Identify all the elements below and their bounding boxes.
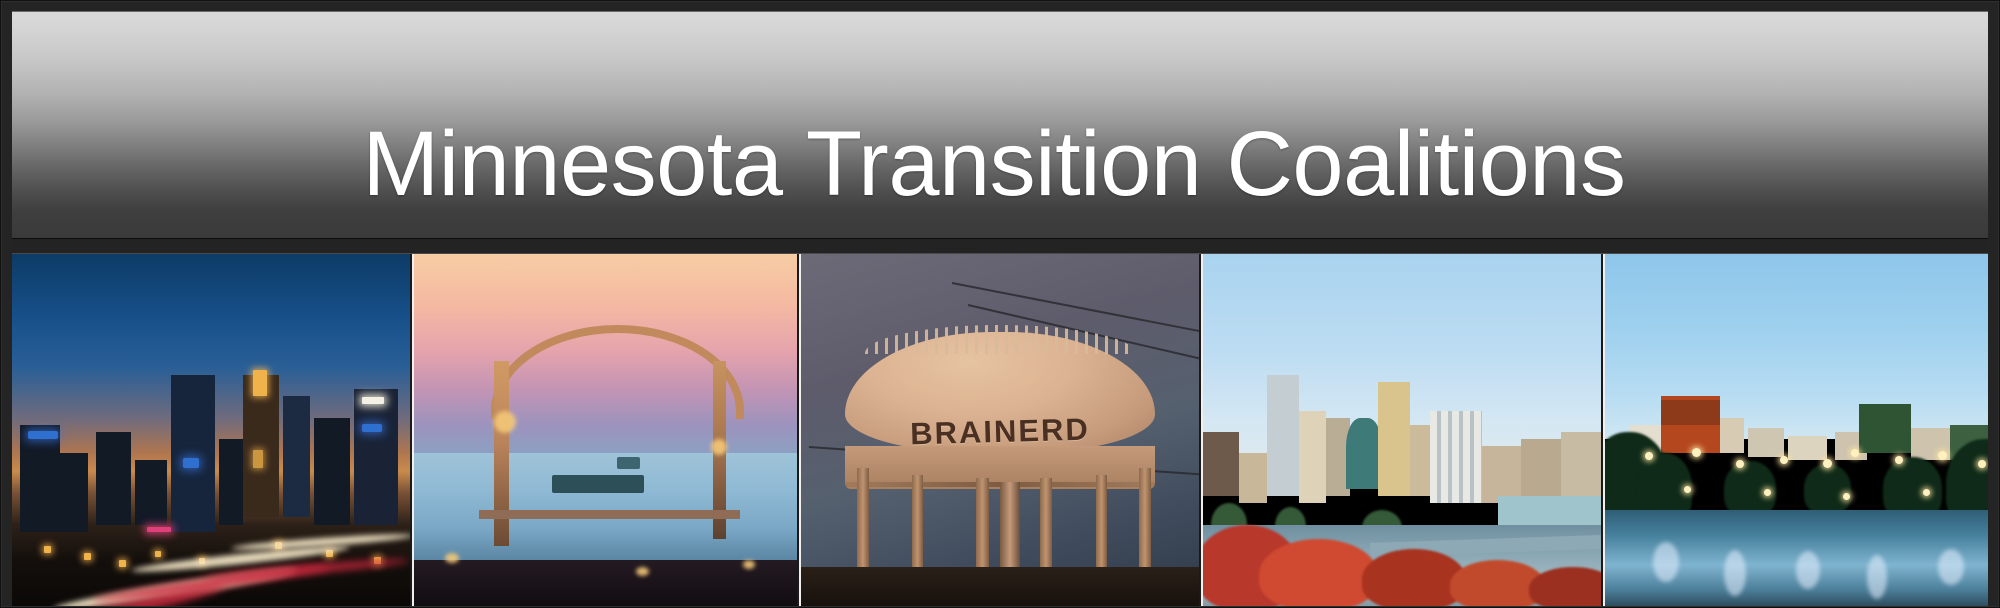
photo-rochester-skyline-river	[1201, 254, 1603, 608]
ground-shadow	[801, 567, 1199, 608]
slide-inner: Minnesota Transition Coalitions	[12, 11, 1988, 608]
photo-duluth-aerial-lift-bridge	[412, 254, 799, 608]
page-title: Minnesota Transition Coalitions	[363, 118, 1626, 238]
photo-minneapolis-skyline-dusk	[12, 254, 412, 608]
title-banner: Minnesota Transition Coalitions	[12, 11, 1988, 238]
bridge-deck	[479, 510, 739, 519]
cargo-ship	[552, 475, 644, 493]
ship-cabin	[617, 457, 640, 469]
slide-frame: Minnesota Transition Coalitions	[0, 0, 2000, 608]
photo-brainerd-water-tower: BRAINERD	[799, 254, 1201, 608]
photo-strip: BRAINERD	[12, 254, 1988, 608]
lake-superior	[414, 453, 797, 560]
banner-separator	[12, 238, 1988, 254]
tower-light-left	[494, 411, 516, 433]
shore-light	[445, 553, 459, 563]
foreground-shoreline	[414, 560, 797, 608]
photo-riverside-city-night	[1603, 254, 1988, 608]
tower-light-right	[711, 439, 727, 455]
